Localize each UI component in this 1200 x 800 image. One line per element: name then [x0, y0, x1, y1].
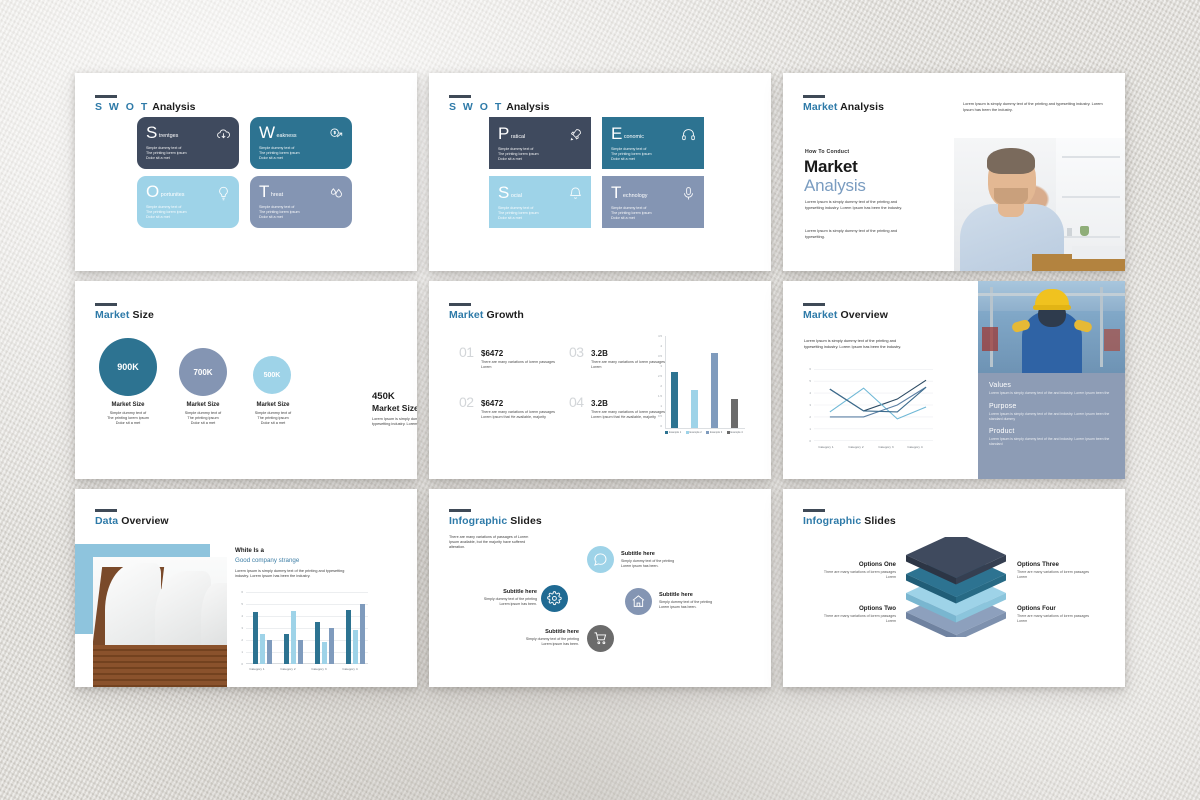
photo-shelf-1 [1062, 156, 1120, 158]
highlight-number: 450K [372, 391, 417, 402]
market-size-highlight: 450K Market Size Lorem Ipsum is simply d… [372, 391, 417, 428]
panel-heading: Values [989, 382, 1114, 389]
x-axis [665, 428, 745, 429]
pest-card-social[interactable]: Social Simple dummy text of The printing… [489, 176, 591, 228]
man-at-laptop-photo [954, 138, 1125, 271]
title-accent: Infographic [449, 515, 507, 527]
title-rule [449, 95, 471, 98]
eyebrow-text: How To Conduct [805, 149, 849, 155]
layer-label-three[interactable]: Options Three There are many variations … [1017, 561, 1097, 580]
photo-hair [987, 148, 1035, 174]
node-body: Simply dummy text of the printing Lorem … [459, 597, 537, 607]
y-tick: 0 [235, 662, 243, 666]
bar-c2-s2[interactable] [291, 611, 296, 664]
layer-label-one[interactable]: Options One There are many variations of… [821, 561, 896, 580]
layer-label-two[interactable]: Options Two There are many variations of… [821, 605, 896, 624]
title-rest: Slides [510, 515, 542, 527]
x-tick: Category 2 [841, 445, 871, 449]
title-rest: Slides [864, 515, 896, 527]
legend-item: Example 4 [727, 431, 748, 434]
swot-card-opportunities[interactable]: Oportunites Simple dummy text of The pri… [137, 176, 239, 228]
layered-stack-graphic [901, 537, 1011, 637]
layer-body: There are many variations of lorem passa… [1017, 614, 1097, 624]
microphone-icon [681, 186, 696, 201]
page-title: S W O T Analysis [449, 101, 549, 113]
title-rule [95, 95, 117, 98]
y-tick: 2.5 [647, 374, 662, 378]
card-word: hreat [269, 192, 283, 198]
bubble-value: 500K [264, 372, 281, 379]
photo-person-left [982, 327, 998, 351]
node-heading: Subtitle here [659, 592, 745, 598]
title-rest: Analysis [840, 101, 884, 113]
y-tick: 4 [647, 344, 662, 348]
title-rest: Growth [486, 309, 523, 321]
y-tick: 3.5 [647, 354, 662, 358]
title-rule [803, 509, 825, 512]
card-word: ratical [509, 134, 525, 140]
bar-c3-s3[interactable] [329, 628, 334, 664]
bar-c2-s1[interactable] [284, 634, 289, 664]
slide-infographic-circles[interactable]: Infographic Slides There are many variat… [429, 489, 771, 687]
bar-c4-s1[interactable] [346, 610, 351, 664]
item-index: 04 [569, 394, 584, 410]
legend-label: Example 3 [710, 431, 722, 434]
paragraph-one: Lorem Ipsum is simply dummy text of the … [805, 199, 913, 210]
card-letter: W [259, 125, 275, 141]
page-title: S W O T Analysis [95, 101, 195, 113]
cloud-download-icon [216, 127, 231, 142]
line-plot-area [814, 369, 933, 441]
data-heading-bold: White Is a [235, 547, 264, 554]
title-accent: Market [803, 309, 837, 321]
bar-c3-s1[interactable] [315, 622, 320, 664]
swot-card-threat[interactable]: Threat Simple dummy text of The printing… [250, 176, 352, 228]
item-value: 3.2B [591, 399, 608, 408]
swot-card-weakness[interactable]: Weakness Simple dummy text of The printi… [250, 117, 352, 169]
bar-c3-s2[interactable] [322, 642, 327, 664]
water-drop-icon [329, 186, 344, 201]
y-tick: 6 [235, 590, 243, 594]
photo-hardhat-brim [1033, 305, 1071, 310]
home-icon[interactable] [625, 588, 652, 615]
caption-heading: Market Size [163, 402, 243, 408]
legend-item: Example 2 [686, 431, 707, 434]
card-letter: T [259, 184, 269, 200]
title-accent: Market [803, 101, 837, 113]
title-rule [803, 303, 825, 306]
panel-item-product: Product Lorem Ipsum is simply dummy text… [989, 428, 1114, 447]
title-rule [803, 95, 825, 98]
bubble-caption-1: Market Size Simple dummy text of The pri… [87, 402, 169, 426]
pest-card-grid: Pratical Simple dummy text of The printi… [489, 117, 714, 228]
panel-body: Lorem Ipsum is simply dummy text of the … [989, 391, 1114, 396]
pest-card-practical[interactable]: Pratical Simple dummy text of The printi… [489, 117, 591, 169]
caption-body: Simple dummy text of The printing ipsum … [233, 411, 313, 427]
node-text-2: Subtitle here Simply dummy text of the p… [459, 589, 537, 607]
y-tick: 1 [235, 650, 243, 654]
legend-label: Example 1 [669, 431, 681, 434]
bar-c1-s1[interactable] [253, 612, 258, 664]
x-tick: Category 2 [272, 667, 304, 671]
bar-c1-s2[interactable] [260, 634, 265, 664]
bar-example-2[interactable] [691, 390, 698, 428]
worker-hardhat-photo [978, 281, 1125, 373]
title-rest: Analysis [506, 101, 549, 113]
card-word: ocial [509, 193, 522, 199]
item-index: 01 [459, 344, 474, 360]
photo-laptop [1072, 246, 1125, 259]
layer-label-four[interactable]: Options Four There are many variations o… [1017, 605, 1097, 624]
y-tick: 5 [235, 602, 243, 606]
card-letter: O [146, 184, 159, 200]
panel-body: Lorem Ipsum is simply dummy text of the … [989, 437, 1114, 447]
page-title: Market Overview [803, 309, 888, 321]
slide-grid: S W O T Analysis Strentges Simple dummy … [75, 73, 1126, 687]
overview-side-panel: Values Lorem Ipsum is simply dummy text … [978, 373, 1125, 479]
data-heading-accent: Good company strange [235, 557, 299, 564]
item-body: There are many variations of lorem passa… [481, 360, 561, 370]
photo-neck [998, 204, 1024, 217]
x-tick: Category 4 [900, 445, 930, 449]
card-letter: S [146, 125, 157, 141]
layer-body: There are many variations of lorem passa… [821, 570, 896, 580]
photo-person-right [1104, 329, 1120, 351]
title-rule [449, 509, 471, 512]
money-growth-icon [329, 127, 344, 142]
bar-example-4[interactable] [731, 399, 738, 428]
line-series-2 [830, 388, 926, 419]
card-body: Simple dummy text of The printing lorem … [611, 147, 696, 162]
y-tick: 3 [647, 364, 662, 368]
title-accent: Market [95, 309, 129, 321]
title-accent: Data [95, 515, 118, 527]
slide-market-analysis[interactable]: Market Analysis Lorem Ipsum is simply du… [783, 73, 1125, 271]
x-tick: Category 4 [334, 667, 366, 671]
data-overview-bar-chart: 6 5 4 3 2 1 0 [235, 592, 370, 682]
legend-label: Example 2 [690, 431, 702, 434]
legend-label: Example 4 [731, 431, 743, 434]
item-index: 03 [569, 344, 584, 360]
node-heading: Subtitle here [495, 629, 579, 635]
pest-card-economic[interactable]: Economic Simple dummy text of The printi… [602, 117, 704, 169]
bar-c4-s2[interactable] [353, 630, 358, 664]
item-value: $6472 [481, 399, 503, 408]
slide-infographic-layers[interactable]: Infographic Slides [783, 489, 1125, 687]
node-heading: Subtitle here [459, 589, 537, 595]
sydney-opera-house-photo [93, 557, 227, 687]
photo-deck [93, 645, 227, 687]
card-body: Simple dummy text of The printing lorem … [498, 147, 583, 162]
card-word: eakness [275, 133, 297, 139]
headphones-icon [681, 127, 696, 142]
x-tick: Category 3 [303, 667, 335, 671]
photo-shelf-3 [1062, 236, 1120, 238]
bubble-caption-3: Market Size Simple dummy text of The pri… [233, 402, 313, 426]
bar-chart-legend: Example 1 Example 2 Example 3 Example 4 [665, 431, 747, 434]
gridline [246, 592, 368, 593]
page-title: Market Size [95, 309, 154, 321]
pest-card-technology[interactable]: Technology Simple dummy text of The prin… [602, 176, 704, 228]
node-text-3: Subtitle here Simply dummy text of the p… [659, 592, 745, 610]
caption-heading: Market Size [87, 402, 169, 408]
title-rule [95, 509, 117, 512]
layer-heading: Options One [821, 561, 896, 568]
grouped-bar-plot-area [246, 592, 368, 664]
y-tick: 3 [803, 403, 811, 407]
intro-paragraph: There are many variations of passages of… [449, 535, 534, 550]
card-body: Simple dummy text of The printing lorem … [146, 146, 231, 161]
title-accent: S W O T [449, 101, 503, 113]
slide-market-size[interactable]: Market Size 900K Market Size Simple dumm… [75, 281, 417, 479]
y-tick: 6 [803, 367, 811, 371]
lightbulb-icon [216, 186, 231, 201]
card-body: Simple dummy text of The printing lorem … [498, 206, 583, 221]
swot-card-grid: Strentges Simple dummy text of The print… [137, 117, 362, 228]
bar-c1-s3[interactable] [267, 640, 272, 664]
bar-example-3[interactable] [711, 353, 718, 428]
y-tick: 2 [803, 415, 811, 419]
panel-item-purpose: Purpose Lorem Ipsum is simply dummy text… [989, 403, 1114, 422]
caption-body: Simple dummy text of The printing ipsum … [163, 411, 243, 427]
card-body: Simple dummy text of The printing lorem … [259, 205, 344, 220]
y-tick: 0 [647, 424, 662, 428]
title-rest: Overview [121, 515, 169, 527]
layer-heading: Options Three [1017, 561, 1097, 568]
y-tick: 4 [803, 391, 811, 395]
y-tick: 1 [803, 427, 811, 431]
card-word: portunites [159, 192, 184, 198]
title-rule [449, 303, 471, 306]
title-accent: Infographic [803, 515, 861, 527]
item-index: 02 [459, 394, 474, 410]
card-letter: S [498, 185, 509, 201]
photo-plant [1080, 226, 1089, 236]
market-size-bubble-700k[interactable]: 700K [179, 348, 227, 396]
slide-market-overview[interactable]: Market Overview Lorem Ipsum is simply du… [783, 281, 1125, 479]
node-body: Simply dummy text of the printing Lorem … [495, 637, 579, 647]
x-tick: Category 1 [241, 667, 273, 671]
slide-market-growth[interactable]: Market Growth 01 $6472 There are many va… [429, 281, 771, 479]
node-body: Simply dummy text of the printing Lorem … [621, 559, 705, 569]
card-body: Simple dummy text of The printing lorem … [259, 146, 344, 161]
legend-swatch-icon [727, 431, 730, 434]
panel-body: Lorem Ipsum is simply dummy text of the … [989, 412, 1114, 422]
legend-swatch-icon [665, 431, 668, 434]
y-tick: 4.5 [647, 334, 662, 338]
title-accent: S W O T [95, 101, 149, 113]
bubble-caption-2: Market Size Simple dummy text of The pri… [163, 402, 243, 426]
card-letter: E [611, 126, 622, 142]
page-title: Market Analysis [803, 101, 884, 113]
highlight-body: Lorem Ipsum is simply dummy text of the … [372, 417, 417, 428]
y-tick: 3 [235, 626, 243, 630]
y-tick: 0 [803, 439, 811, 443]
page-title: Data Overview [95, 515, 169, 527]
legend-item: Example 1 [665, 431, 686, 434]
bell-icon [568, 186, 583, 201]
caption-body: Simple dummy text of The printing lorem … [87, 411, 169, 427]
card-body: Simple dummy text of The printing lorem … [611, 206, 696, 221]
legend-swatch-icon [686, 431, 689, 434]
slide-swot-analysis[interactable]: S W O T Analysis Strentges Simple dummy … [75, 73, 417, 271]
photo-sail-3 [201, 583, 227, 651]
gear-icon[interactable] [541, 585, 568, 612]
bubble-value: 700K [193, 368, 212, 377]
title-rest: Analysis [152, 101, 195, 113]
headline-bold: Market [804, 157, 858, 177]
card-letter: T [611, 185, 621, 201]
card-word: trentges [157, 133, 178, 139]
title-rule [95, 303, 117, 306]
highlight-accent: Market [372, 403, 399, 413]
layer-heading: Options Four [1017, 605, 1097, 612]
photo-book [1067, 228, 1072, 236]
y-tick: 1 [647, 404, 662, 408]
title-rest: Size [132, 309, 153, 321]
slide-data-overview[interactable]: Data Overview White Is a Good company st… [75, 489, 417, 687]
legend-swatch-icon [706, 431, 709, 434]
y-tick: 2 [647, 384, 662, 388]
y-tick: 1.5 [647, 394, 662, 398]
panel-heading: Product [989, 428, 1114, 435]
card-word: echnology [621, 193, 647, 199]
line-series-4 [830, 387, 926, 412]
caption-heading: Market Size [233, 402, 313, 408]
chat-bubble-icon[interactable] [587, 546, 614, 573]
node-text-4: Subtitle here Simply dummy text of the p… [495, 629, 579, 647]
page-title: Infographic Slides [803, 515, 896, 527]
swot-card-strengths[interactable]: Strentges Simple dummy text of The print… [137, 117, 239, 169]
layer-body: There are many variations of lorem passa… [821, 614, 896, 624]
bar-c4-s3[interactable] [360, 604, 365, 664]
bar-c2-s3[interactable] [298, 640, 303, 664]
highlight-rest: Size [402, 403, 417, 413]
bar-plot-area [665, 336, 745, 428]
legend-item: Example 3 [706, 431, 727, 434]
bubble-value: 900K [117, 362, 139, 372]
bar-example-1[interactable] [671, 372, 678, 428]
photo-shelf-2 [1062, 196, 1120, 198]
title-accent: Market [449, 309, 483, 321]
panel-item-values: Values Lorem Ipsum is simply dummy text … [989, 382, 1114, 396]
highlight-title: Market Size [372, 403, 417, 413]
card-word: conomic [622, 134, 644, 140]
market-overview-line-chart: 6 5 4 3 2 1 0 [803, 369, 933, 464]
photo-sail-1 [105, 563, 161, 651]
data-paragraph: Lorem Ipsum is simply dummy text of the … [235, 569, 350, 580]
item-value: 3.2B [591, 349, 608, 358]
item-value: $6472 [481, 349, 503, 358]
y-tick: 0.5 [647, 414, 662, 418]
headline-light: Analysis [804, 176, 866, 196]
page-title: Infographic Slides [449, 515, 542, 527]
x-tick: Category 3 [871, 445, 901, 449]
paragraph-two: Lorem Ipsum is simply dummy text of the … [805, 228, 913, 239]
page-title: Market Growth [449, 309, 524, 321]
layer-body: There are many variations of lorem passa… [1017, 570, 1097, 580]
photo-pole-2 [1100, 287, 1103, 367]
market-size-bubble-500k[interactable]: 500K [253, 356, 291, 394]
title-rest: Overview [840, 309, 888, 321]
overview-paragraph: Lorem Ipsum is simply dummy text of the … [804, 338, 914, 349]
gridline [246, 604, 368, 605]
y-tick: 5 [803, 379, 811, 383]
y-tick: 4 [235, 614, 243, 618]
market-size-bubble-900k[interactable]: 900K [99, 338, 157, 396]
y-tick: 2 [235, 638, 243, 642]
x-tick: Category 1 [811, 445, 841, 449]
card-letter: P [498, 126, 509, 142]
layer-heading: Options Two [821, 605, 896, 612]
rocket-icon [568, 127, 583, 142]
panel-heading: Purpose [989, 403, 1114, 410]
intro-paragraph: Lorem Ipsum is simply dummy text of the … [963, 101, 1108, 112]
item-body: There are many variations of lorem passa… [481, 410, 561, 420]
slide-pest-analysis[interactable]: S W O T Analysis Pratical Simple dummy t… [429, 73, 771, 271]
card-body: Simple dummy text of The printing lorem … [146, 205, 231, 220]
node-body: Simply dummy text of the printing Lorem … [659, 600, 745, 610]
node-text-1: Subtitle here Simply dummy text of the p… [621, 551, 705, 569]
market-growth-bar-chart: 4.5 4 3.5 3 2.5 2 1.5 1 0.5 0 Example 1 [647, 336, 747, 446]
node-heading: Subtitle here [621, 551, 705, 557]
cart-icon[interactable] [587, 625, 614, 652]
